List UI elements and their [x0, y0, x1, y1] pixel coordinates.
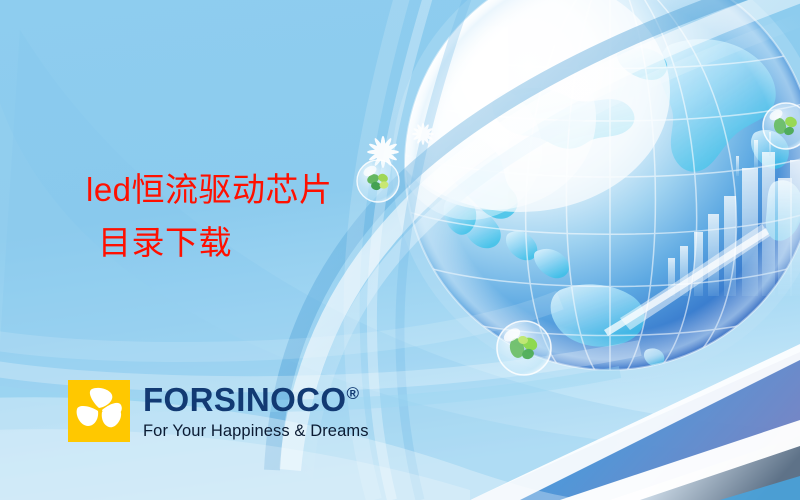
company-logo: FORSINOCO® For Your Happiness & Dreams [68, 380, 369, 442]
registered-trademark-icon: ® [346, 384, 359, 403]
logo-wordmark: FORSINOCO® [143, 383, 369, 416]
promo-banner: led恒流驱动芯片 目录下载 FORSINOCO® For Your Happi… [0, 0, 800, 500]
headline-line-1: led恒流驱动芯片 [86, 171, 333, 208]
headline-text: led恒流驱动芯片 目录下载 [86, 163, 333, 270]
headline-line-2: 目录下载 [86, 216, 333, 269]
logo-text-block: FORSINOCO® For Your Happiness & Dreams [143, 383, 369, 440]
logo-wordmark-text: FORSINOCO [143, 381, 346, 418]
bubble-pinwheel-right [763, 103, 800, 149]
bubble-pinwheel-center [497, 321, 551, 375]
pinwheel-icon [68, 380, 130, 442]
forsinoco-pinwheel-mark [68, 380, 130, 442]
bubble-pinwheel-left [357, 160, 399, 202]
logo-tagline: For Your Happiness & Dreams [143, 423, 369, 440]
